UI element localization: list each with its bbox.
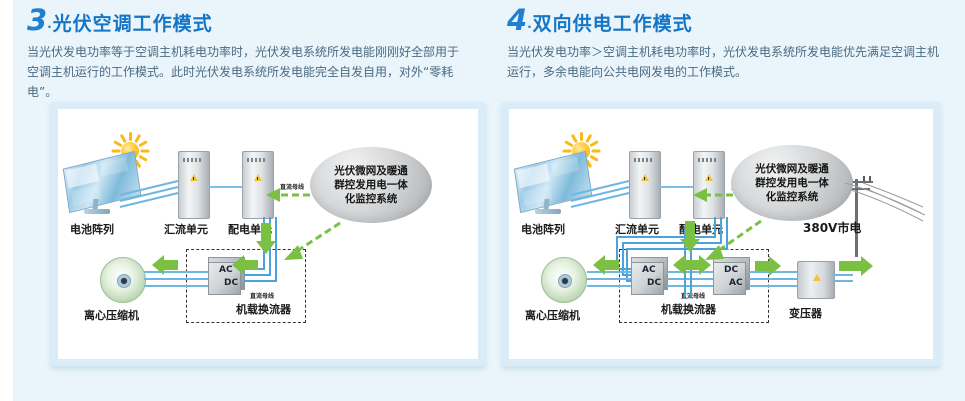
combiner-unit-icon [629,151,661,219]
panel-right-description-text: 当光伏发电功率＞空调主机耗电功率时，光伏发电系统所发电能优先满足空调主机运行，多… [507,42,947,82]
label-solar-array: 电池阵列 [70,221,114,237]
centrifugal-compressor-icon [541,257,587,303]
label-onboard-converter: 机载换流器 [236,301,291,317]
panel-right-number: 4 [507,6,526,35]
converter1-dc-label: DC [647,278,661,288]
callout-line-3: 化监控系统 [345,192,398,206]
transformer-icon [797,261,835,299]
converter1-ac-label: AC [642,265,656,275]
label-combiner-unit: 汇流单元 [164,221,208,237]
label-onboard-converter: 机载换流器 [661,301,716,317]
distribution-unit-icon [693,151,725,219]
label-transformer: 变压器 [789,305,822,321]
label-distribution-unit: 配电单元 [228,221,272,237]
panel-left-title: 光伏空调工作模式 [53,14,213,35]
diagram-left: 电池阵列 汇流单元 配电单元 直流母线 离心压缩机 AC [58,109,478,359]
monitoring-system-callout: 光伏微网及暖通 群控发用电一体 化监控系统 [731,145,853,221]
label-combiner-unit: 汇流单元 [615,221,659,237]
converter2-dc-label: DC [724,265,738,275]
monitoring-system-callout: 光伏微网及暖通 群控发用电一体 化监控系统 [310,147,432,223]
label-solar-array: 电池阵列 [521,221,565,237]
panel-left-header: 3 . 光伏空调工作模式 当光伏发电功率等于空调主机耗电功率时，光伏发电系统所发… [27,6,467,102]
diagram-card-right: 电池阵列 汇流单元 配电单元 直流母线 离心压缩机 AC DC [502,102,940,366]
label-compressor: 离心压缩机 [84,307,139,323]
page-root: 3 . 光伏空调工作模式 当光伏发电功率等于空调主机耗电功率时，光伏发电系统所发… [0,0,965,401]
panel-left-description: 当光伏发电功率等于空调主机耗电功率时，光伏发电系统所发电能刚刚好全部用于空调主机… [27,42,467,102]
panel-right-title-row: 4 . 双向供电工作模式 [507,6,947,35]
label-dc-bus-bottom: 直流母线 [250,291,274,300]
onboard-converter-2-icon: DC AC [713,257,749,293]
callout-line-2: 群控发用电一体 [334,178,408,192]
label-dc-bus-bottom: 直流母线 [681,291,705,300]
solar-array-icon [66,159,140,217]
label-dc-bus-top: 直流母线 [280,182,304,191]
label-grid-380v: 380V市电 [803,219,861,236]
onboard-converter-1-icon: AC DC [631,257,667,293]
callout-line-2: 群控发用电一体 [755,176,829,190]
panel-bidirectional-mode: 4 . 双向供电工作模式 当光伏发电功率＞空调主机耗电功率时，光伏发电系统所发电… [493,0,965,401]
panel-photovoltaic-ac-mode: 3 . 光伏空调工作模式 当光伏发电功率等于空调主机耗电功率时，光伏发电系统所发… [13,0,483,401]
converter2-ac-label: AC [729,278,743,288]
distribution-unit-icon [242,151,274,219]
label-distribution-unit: 配电单元 [679,221,723,237]
solar-array-icon [517,159,591,217]
left-margin-strip [0,0,13,401]
callout-line-3: 化监控系统 [766,190,819,204]
onboard-converter-icon: AC DC [208,257,244,293]
callout-line-1: 光伏微网及暖通 [755,162,829,176]
panel-right-description: 当光伏发电功率＞空调主机耗电功率时，光伏发电系统所发电能优先满足空调主机运行，多… [507,42,947,82]
panel-right-title: 双向供电工作模式 [533,14,693,35]
panel-right-header: 4 . 双向供电工作模式 当光伏发电功率＞空调主机耗电功率时，光伏发电系统所发电… [507,6,947,82]
label-compressor: 离心压缩机 [525,307,580,323]
diagram-card-left: 电池阵列 汇流单元 配电单元 直流母线 离心压缩机 AC [51,102,485,366]
centrifugal-compressor-icon [100,257,146,303]
panel-left-description-text: 当光伏发电功率等于空调主机耗电功率时，光伏发电系统所发电能刚刚好全部用于空调主机… [27,42,467,102]
converter-dc-label: DC [224,278,238,288]
diagram-right: 电池阵列 汇流单元 配电单元 直流母线 离心压缩机 AC DC [509,109,933,359]
panel-left-title-row: 3 . 光伏空调工作模式 [27,6,467,35]
converter-ac-label: AC [219,265,233,275]
combiner-unit-icon [178,151,210,219]
callout-line-1: 光伏微网及暖通 [334,164,408,178]
panel-left-number: 3 [27,6,46,35]
